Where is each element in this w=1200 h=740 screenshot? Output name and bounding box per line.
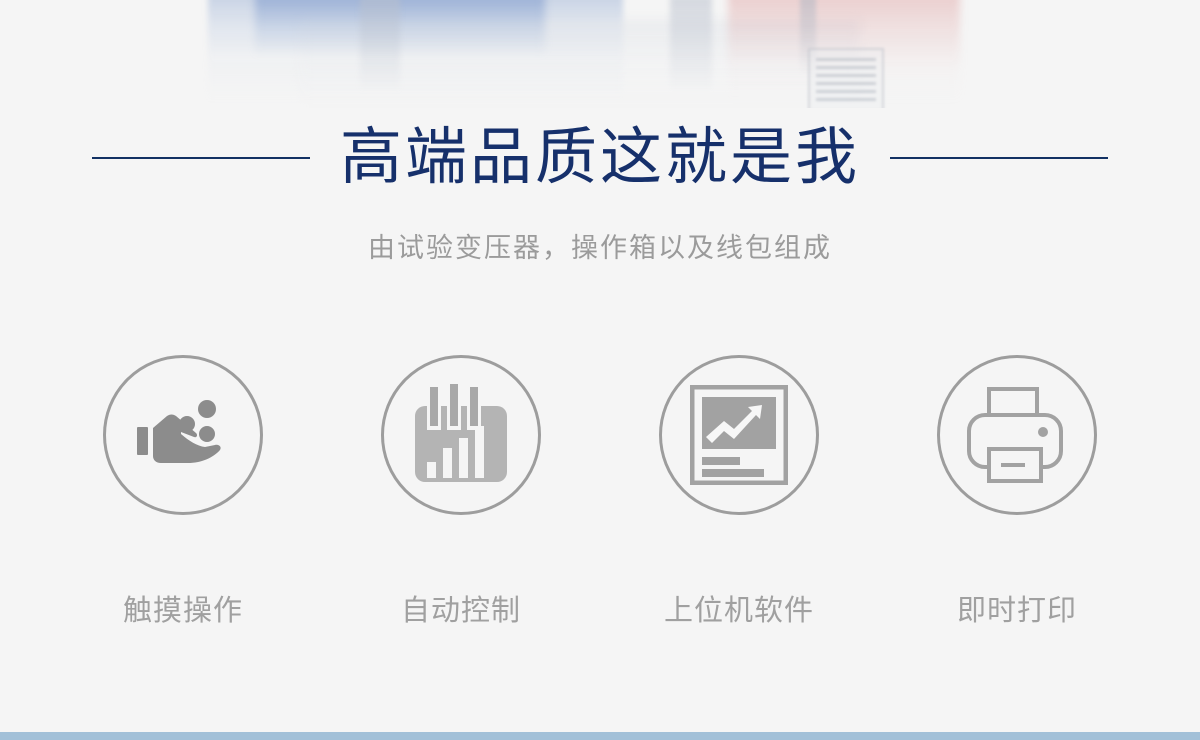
decorative-rule-left <box>92 157 310 159</box>
heading-block: 高端品质这就是我 由试验变压器，操作箱以及线包组成 <box>0 112 1200 265</box>
page-title: 高端品质这就是我 <box>340 127 860 189</box>
feature-circle <box>659 355 819 515</box>
banner-panel-outline <box>808 48 884 108</box>
feature-label: 自动控制 <box>401 587 521 629</box>
feature-label: 即时打印 <box>957 587 1077 629</box>
feature-circle <box>103 355 263 515</box>
banner-object-left <box>360 0 400 92</box>
control-cabinet-chart-icon <box>411 384 511 486</box>
feature-item-touch-operation[interactable]: 触摸操作 <box>44 355 322 629</box>
feature-label: 上位机软件 <box>664 587 814 629</box>
banner-object-mid <box>670 0 712 92</box>
bottom-accent-bar <box>0 732 1200 740</box>
faded-banner-remnant <box>0 0 1200 108</box>
feature-item-host-software[interactable]: 上位机软件 <box>600 355 878 629</box>
printer-icon <box>965 387 1069 483</box>
page-subtitle: 由试验变压器，操作箱以及线包组成 <box>0 226 1200 265</box>
banner-blue-highlight <box>255 0 545 56</box>
feature-circle <box>381 355 541 515</box>
feature-list: 触摸操作 <box>0 355 1200 629</box>
feature-label: 触摸操作 <box>123 587 243 629</box>
report-chart-document-icon <box>690 385 788 485</box>
feature-circle <box>937 355 1097 515</box>
decorative-rule-right <box>890 157 1108 159</box>
banner-light-block <box>300 20 860 108</box>
banner-object-right <box>800 0 816 74</box>
banner-blue-block <box>208 0 623 102</box>
hand-touch-icon <box>131 383 235 487</box>
banner-red-block <box>728 0 960 102</box>
title-row: 高端品质这就是我 <box>0 112 1200 204</box>
feature-item-automatic-control[interactable]: 自动控制 <box>322 355 600 629</box>
feature-item-instant-print[interactable]: 即时打印 <box>878 355 1156 629</box>
